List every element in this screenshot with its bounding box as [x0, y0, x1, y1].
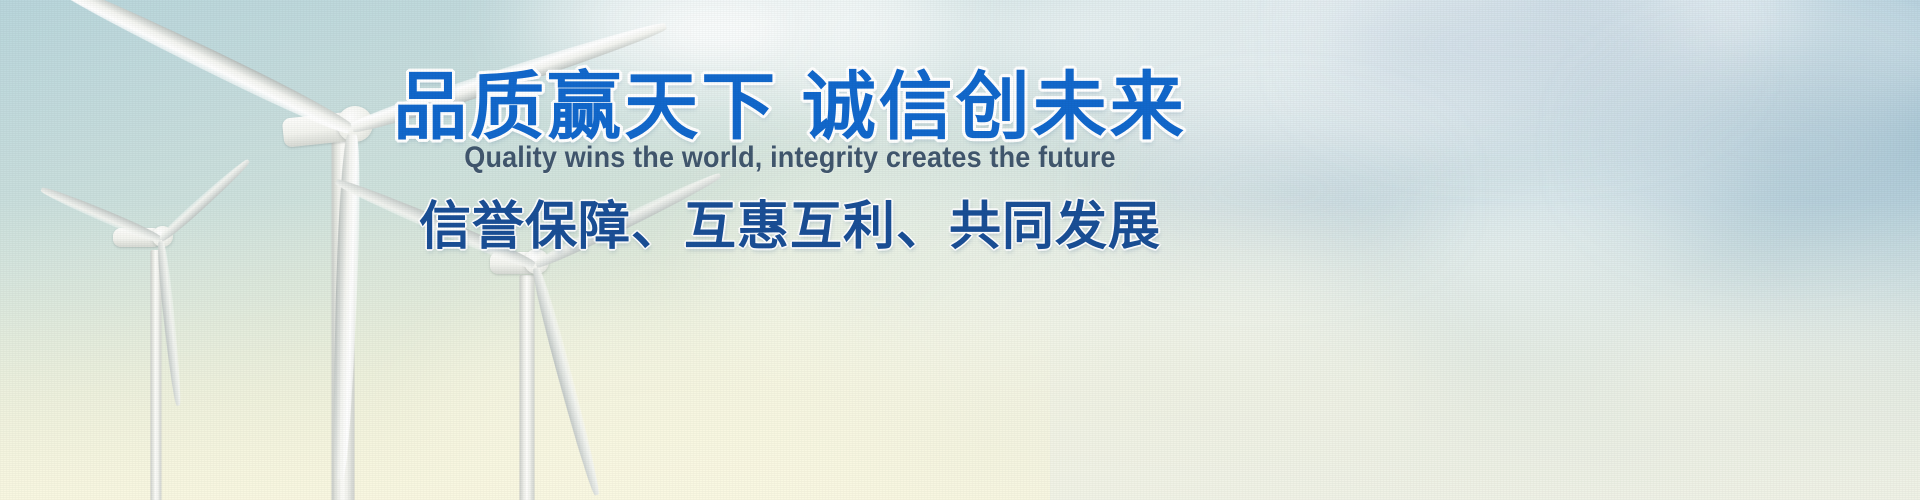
banner-tagline-chinese: 信誉保障、互惠互利、共同发展 — [0, 196, 1580, 258]
banner-subtitle-english: Quality wins the world, integrity create… — [79, 138, 1501, 178]
hero-banner: 品质赢天下 诚信创未来 Quality wins the world, inte… — [0, 0, 1920, 500]
turbine-blade — [529, 266, 603, 497]
turbine-tower — [520, 275, 535, 500]
